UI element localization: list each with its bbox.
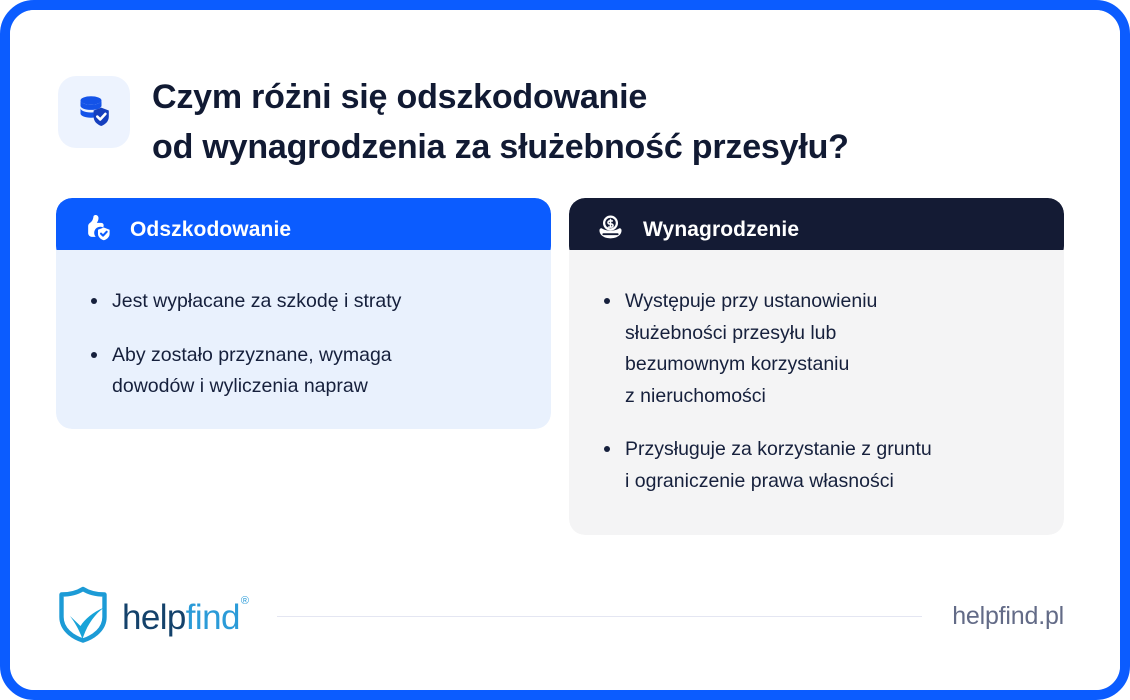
card-title-wynagrodzenie: Wynagrodzenie (643, 218, 799, 242)
registered-mark: ® (241, 595, 249, 607)
bullet-list-wynagrodzenie: Występuje przy ustanowieniu służebności … (599, 286, 1038, 497)
coin-in-hand-icon (595, 212, 626, 248)
helpfind-logo[interactable]: helpfind® (56, 585, 247, 648)
helpfind-wordmark: helpfind® (122, 600, 247, 635)
footer-divider (277, 616, 922, 617)
helpfind-shield-check-icon (56, 585, 110, 648)
card-body-wynagrodzenie: Występuje przy ustanowieniu służebności … (569, 250, 1064, 535)
card-odszkodowanie: Odszkodowanie Jest wypłacane za szkodę i… (56, 198, 551, 429)
bullet-list-odszkodowanie: Jest wypłacane za szkodę i straty Aby zo… (86, 286, 525, 403)
list-item: Aby zostało przyznane, wymaga dowodów i … (86, 340, 525, 403)
wordmark-find: find (186, 598, 240, 637)
page-title: Czym różni się odszkodowanie od wynagrod… (152, 72, 849, 173)
infographic-frame: Czym różni się odszkodowanie od wynagrod… (0, 0, 1130, 700)
list-item: Przysługuje za korzystanie z gruntu i og… (599, 434, 1038, 497)
card-body-odszkodowanie: Jest wypłacane za szkodę i straty Aby zo… (56, 250, 551, 429)
header: Czym różni się odszkodowanie od wynagrod… (58, 72, 849, 173)
header-icon-container (58, 76, 130, 148)
card-title-odszkodowanie: Odszkodowanie (130, 218, 291, 242)
thumbs-up-shield-check-icon (82, 212, 113, 248)
database-shield-check-icon (74, 90, 114, 135)
list-item: Występuje przy ustanowieniu służebności … (599, 286, 1038, 412)
footer: helpfind® helpfind.pl (56, 583, 1064, 649)
list-item: Jest wypłacane za szkodę i straty (86, 286, 525, 318)
wordmark-help: help (122, 598, 186, 637)
card-wynagrodzenie: Wynagrodzenie Występuje przy ustanowieni… (569, 198, 1064, 535)
infographic-canvas: Czym różni się odszkodowanie od wynagrod… (10, 10, 1120, 690)
footer-domain[interactable]: helpfind.pl (952, 602, 1064, 631)
